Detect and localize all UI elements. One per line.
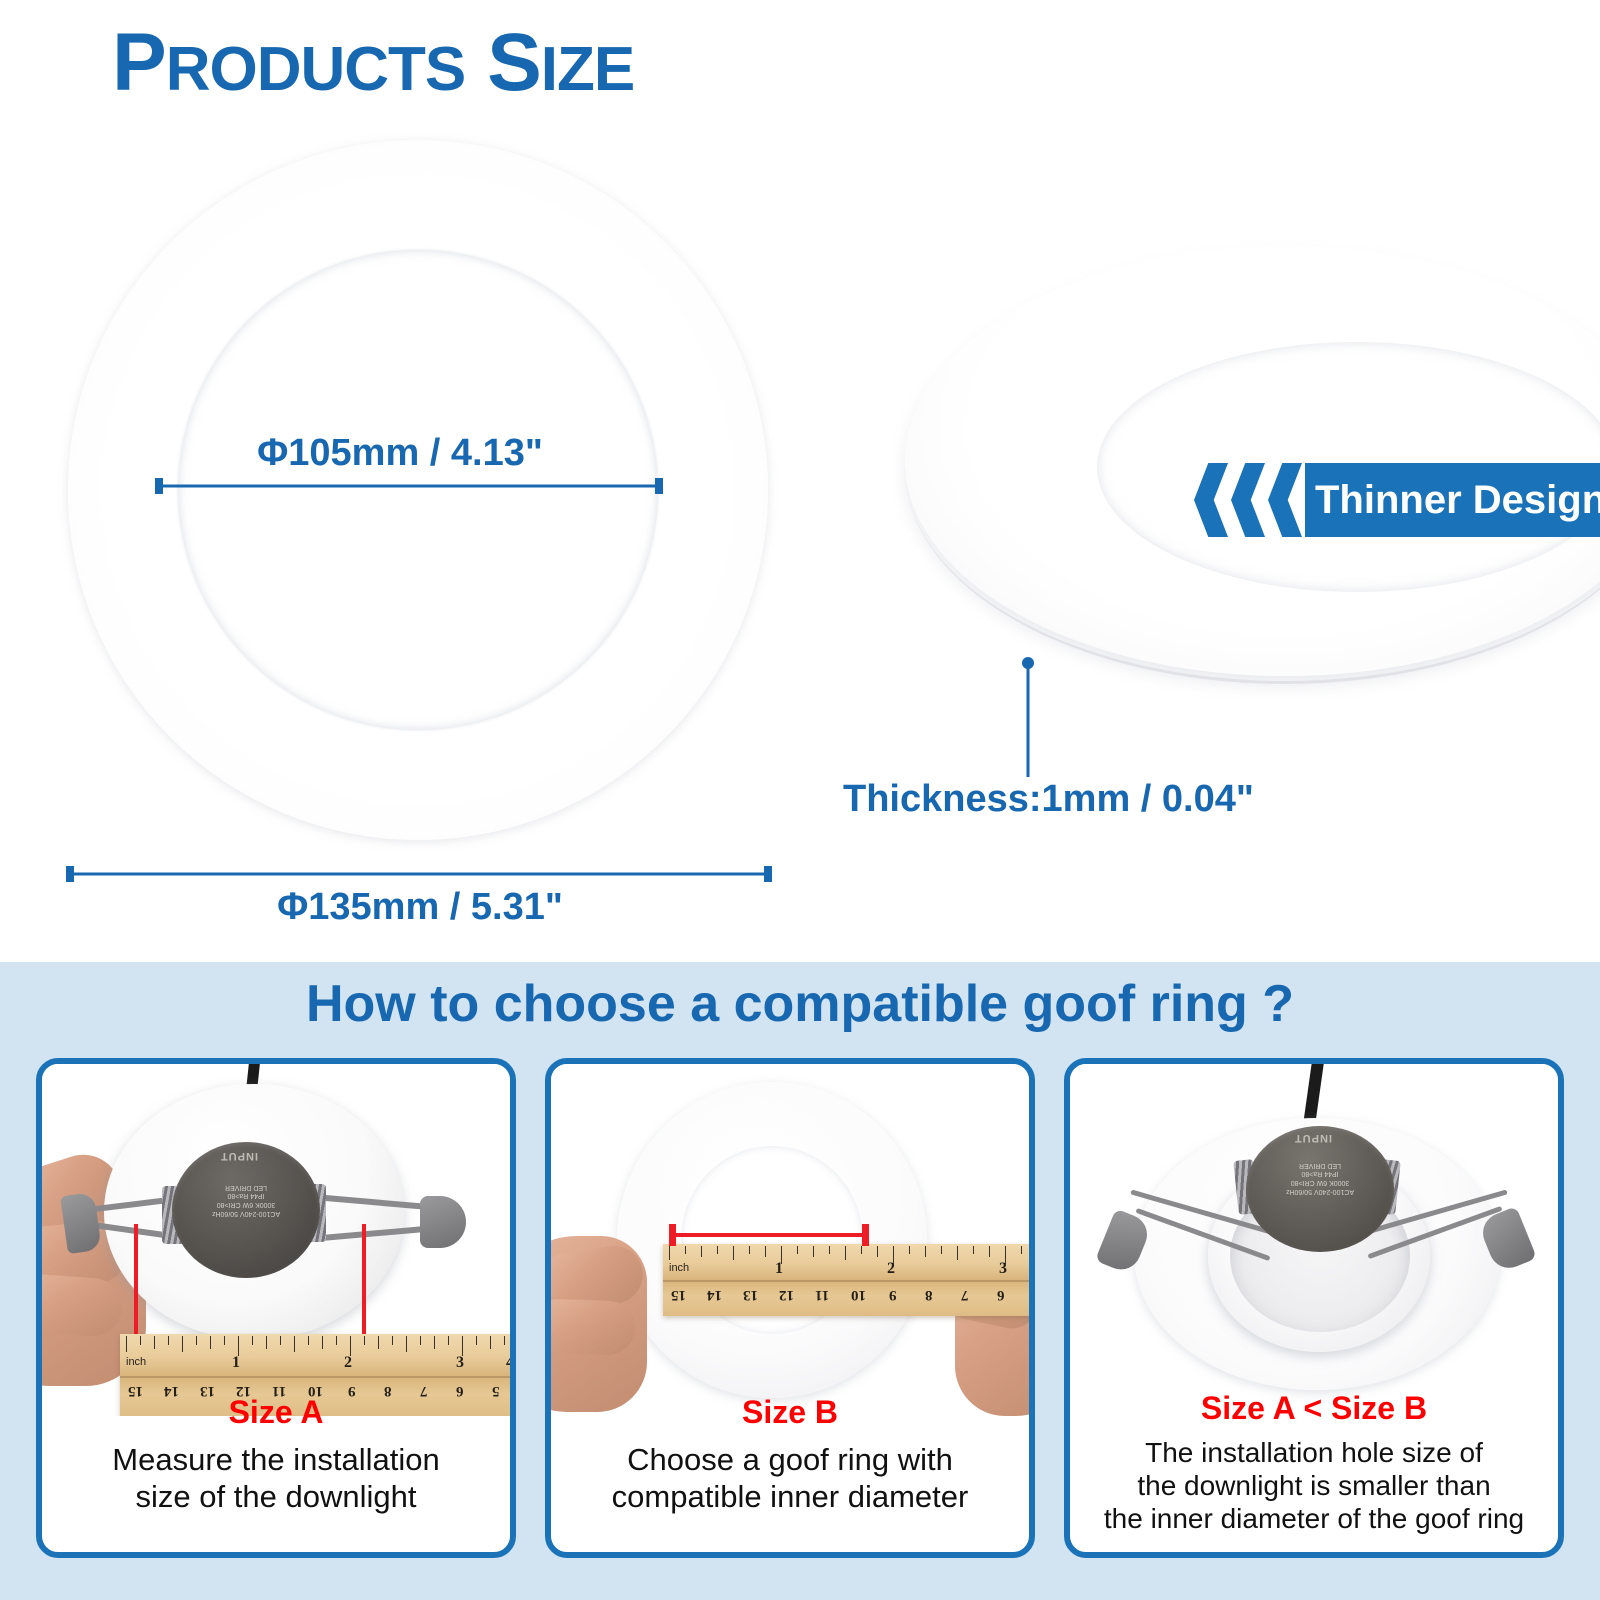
ruler-inch-2: 2 (344, 1354, 352, 1372)
photo-measure-goof-ring: inch 1 2 (551, 1064, 1029, 1416)
chevron-left-icon (1231, 463, 1265, 537)
how-to-choose-section: How to choose a compatible goof ring ? I… (0, 962, 1600, 1600)
measure-line-left (134, 1224, 138, 1342)
caption-line-3: the inner diameter of the goof ring (1076, 1502, 1552, 1535)
ruler-inch-4: 4 (506, 1354, 510, 1372)
inner-diameter-measure-arrow (669, 1224, 869, 1246)
thinner-design-label: Thinner Design (1315, 478, 1600, 523)
ruler-inch-3: 3 (999, 1260, 1007, 1278)
ruler-inch-2: 2 (887, 1260, 895, 1278)
driver-spec-text: AC100-240V 50/60Hz 3000K 6W CRI>80 IP44 … (190, 1182, 302, 1217)
ruler-inch-1: 1 (775, 1260, 783, 1278)
ruler-cm-12: 12 (779, 1286, 794, 1303)
caption-line-2: the downlight is smaller than (1076, 1469, 1552, 1502)
ruler-cm-6: 6 (997, 1286, 1005, 1303)
caption-line-1: Measure the installation (48, 1442, 504, 1479)
ruler-unit-label: inch (669, 1262, 689, 1274)
driver-box: INPUT AC100-240V 50/60Hz 3000K 6W CRI>80… (1246, 1126, 1394, 1252)
ruler-cm-11: 11 (815, 1286, 829, 1303)
products-size-section: PRODUCTS SIZE Φ105mm / 4.13" Φ135mm / 5.… (0, 0, 1600, 962)
finger (551, 1298, 636, 1356)
inner-diameter-arrow (155, 478, 663, 494)
ruler-divider (663, 1280, 1029, 1282)
spring-clip-pad-right (420, 1196, 466, 1248)
panel-caption-size-a: Measure the installation size of the dow… (48, 1442, 504, 1515)
photo-downlight-in-goof-ring: INPUT AC100-240V 50/60Hz 3000K 6W CRI>80… (1070, 1064, 1558, 1416)
driver-input-label: INPUT (1294, 1132, 1332, 1144)
page-title: PRODUCTS SIZE (112, 22, 634, 104)
driver-input-label: INPUT (220, 1150, 258, 1162)
thinner-design-bar: Thinner Design (1305, 463, 1600, 537)
ruler-cm-7: 7 (961, 1286, 969, 1303)
ruler-cm-13: 13 (743, 1286, 758, 1303)
thickness-label: Thickness:1mm / 0.04" (843, 778, 1254, 821)
ruler-inch-3: 3 (456, 1354, 464, 1372)
driver-box: INPUT AC100-240V 50/60Hz 3000K 6W CRI>80… (172, 1142, 320, 1278)
thickness-leader-line (1018, 655, 1038, 780)
title-initial-p: P (112, 17, 166, 108)
panel-caption-size-b: Choose a goof ring with compatible inner… (557, 1442, 1023, 1515)
driver-spec-text: AC100-240V 50/60Hz 3000K 6W CRI>80 IP44 … (1264, 1160, 1376, 1195)
chevron-left-icon (1194, 463, 1228, 537)
ruler-cm-10: 10 (851, 1286, 866, 1303)
outer-diameter-label: Φ135mm / 5.31" (60, 886, 780, 929)
caption-line-1: Choose a goof ring with (557, 1442, 1023, 1479)
panel-badge-comparison: Size A < Size B (1070, 1390, 1558, 1427)
title-rest-products: RODUCTS (166, 35, 466, 104)
ruler-divider (120, 1376, 510, 1378)
panel-badge-size-a: Size A (42, 1394, 510, 1431)
photo-measure-downlight: INPUT AC100-240V 50/60Hz 3000K 6W CRI>80… (42, 1064, 510, 1416)
inner-diameter-label: Φ105mm / 4.13" (100, 432, 700, 475)
thinner-design-banner: Thinner Design (1194, 463, 1600, 537)
ruler-cm-9: 9 (889, 1286, 897, 1303)
power-wire (1304, 1064, 1325, 1123)
caption-line-2: size of the downlight (48, 1479, 504, 1516)
caption-line-2: compatible inner diameter (557, 1479, 1023, 1516)
ruler-inch-1: 1 (232, 1354, 240, 1372)
ruler-cm-14: 14 (707, 1286, 722, 1303)
measure-line-right (362, 1224, 366, 1342)
how-to-heading: How to choose a compatible goof ring ? (0, 974, 1600, 1034)
how-to-panel-size-a: INPUT AC100-240V 50/60Hz 3000K 6W CRI>80… (36, 1058, 516, 1558)
ruler-cm-15: 15 (671, 1286, 686, 1303)
ruler-unit-label: inch (126, 1356, 146, 1368)
title-rest-size: IZE (541, 35, 634, 104)
how-to-panel-size-b: inch 1 2 (545, 1058, 1035, 1558)
panel-caption-comparison: The installation hole size of the downli… (1076, 1436, 1552, 1535)
outer-diameter-arrow (66, 866, 772, 882)
ruler: inch 1 2 (663, 1244, 1029, 1316)
panel-badge-size-b: Size B (551, 1394, 1029, 1431)
chevron-left-icon (1268, 463, 1302, 537)
ruler-cm-8: 8 (925, 1286, 933, 1303)
title-initial-s: S (487, 17, 541, 108)
caption-line-1: The installation hole size of (1076, 1436, 1552, 1469)
how-to-panel-comparison: INPUT AC100-240V 50/60Hz 3000K 6W CRI>80… (1064, 1058, 1564, 1558)
